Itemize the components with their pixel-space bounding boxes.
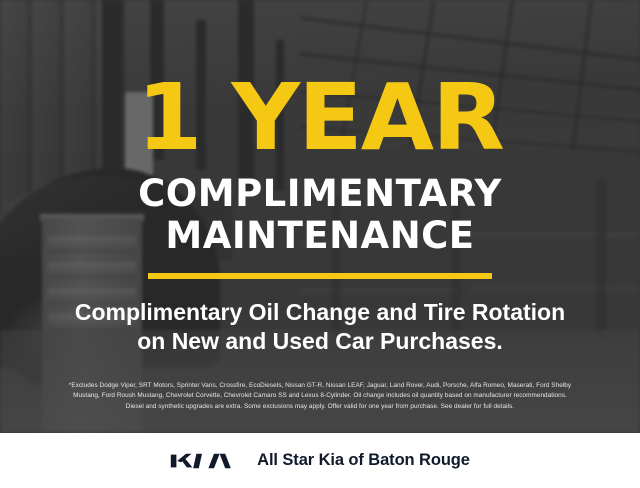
disclaimer-line-1: *Excludes Dodge Viper, SRT Motors, Sprin… (12, 381, 628, 391)
disclaimer-line-2: Mustang, Ford Roush Mustang, Chevrolet C… (12, 391, 628, 401)
kia-logo-icon (170, 449, 238, 473)
disclaimer-line-3: Diesel and synthetic upgrades are extra.… (12, 402, 628, 412)
offer-description-line2: on New and Used Car Purchases. (137, 327, 503, 355)
yellow-divider-rule (148, 273, 492, 279)
offer-description-line1: Complimentary Oil Change and Tire Rotati… (75, 298, 565, 326)
headline-year: 1 YEAR (137, 72, 503, 164)
dealer-footer: All Star Kia of Baton Rouge (0, 433, 640, 488)
dealer-name: All Star Kia of Baton Rouge (257, 451, 470, 470)
promotional-banner: 1 YEAR COMPLIMENTARY MAINTENANCE Complim… (0, 0, 640, 488)
disclaimer-text: *Excludes Dodge Viper, SRT Motors, Sprin… (12, 381, 628, 412)
hero-section: 1 YEAR COMPLIMENTARY MAINTENANCE Complim… (0, 0, 640, 433)
headline-complimentary: COMPLIMENTARY (138, 174, 502, 214)
headline-maintenance: MAINTENANCE (165, 216, 474, 256)
